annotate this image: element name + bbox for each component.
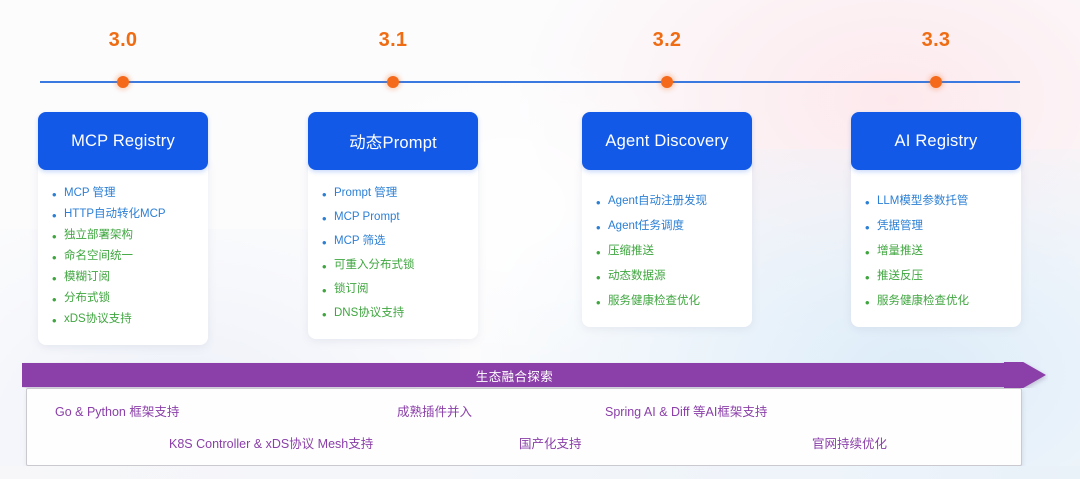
bullet-dot-icon: • <box>596 221 608 234</box>
ecosystem-item: 成熟插件并入 <box>397 401 472 420</box>
list-item-label: 可重入分布式锁 <box>334 260 472 272</box>
bullet-dot-icon: • <box>52 230 64 243</box>
list-item: • 增量推送 <box>865 246 1015 259</box>
version-card-mcp-registry[interactable]: MCP Registry • MCP 管理 • HTTP自动转化MCP • 独立… <box>38 112 208 345</box>
list-item-label: 模糊订阅 <box>64 272 202 284</box>
list-item: • MCP 管理 <box>52 188 202 201</box>
list-item-label: 服务健康检查优化 <box>608 296 746 308</box>
list-item: • 服务健康检查优化 <box>865 296 1015 309</box>
list-item: • MCP Prompt <box>322 212 472 225</box>
ecosystem-item: Go & Python 框架支持 <box>55 401 179 420</box>
list-item: • HTTP自动转化MCP <box>52 209 202 222</box>
card-header: 动态Prompt <box>308 112 478 170</box>
card-header: MCP Registry <box>38 112 208 170</box>
list-item-label: 压缩推送 <box>608 246 746 258</box>
version-card-dynamic-prompt[interactable]: 动态Prompt • Prompt 管理 • MCP Prompt • MCP … <box>308 112 478 339</box>
list-item-label: 增量推送 <box>877 246 1015 258</box>
ecosystem-item: Spring AI & Diff 等AI框架支持 <box>605 401 767 420</box>
ecosystem-arrow-banner: 生态融合探索 <box>22 362 1048 388</box>
ecosystem-item: 官网持续优化 <box>812 433 887 452</box>
bullet-dot-icon: • <box>322 236 334 249</box>
bullet-dot-icon: • <box>865 196 877 209</box>
timeline-label-3-2: 3.2 <box>627 29 707 52</box>
list-item: • Agent自动注册发现 <box>596 196 746 209</box>
list-item-label: 推送反压 <box>877 271 1015 283</box>
timeline-track: 3.0 3.1 3.2 3.3 <box>40 81 1020 83</box>
card-header: AI Registry <box>851 112 1021 170</box>
bullet-dot-icon: • <box>865 221 877 234</box>
card-title: AI Registry <box>895 132 978 151</box>
list-item-label: 凭据管理 <box>877 221 1015 233</box>
timeline-dot-icon <box>117 76 129 88</box>
list-item-label: DNS协议支持 <box>334 308 472 320</box>
list-item-label: 服务健康检查优化 <box>877 296 1015 308</box>
list-item: • 模糊订阅 <box>52 272 202 285</box>
card-body: • Agent自动注册发现 • Agent任务调度 • 压缩推送 • 动态数据源… <box>582 160 752 327</box>
card-body: • Prompt 管理 • MCP Prompt • MCP 筛选 • 可重入分… <box>308 160 478 339</box>
bullet-dot-icon: • <box>52 251 64 264</box>
bullet-dot-icon: • <box>865 296 877 309</box>
list-item-label: Agent自动注册发现 <box>608 196 746 208</box>
list-item-label: xDS协议支持 <box>64 314 202 326</box>
list-item: • DNS协议支持 <box>322 308 472 321</box>
list-item: • 动态数据源 <box>596 271 746 284</box>
card-body: • MCP 管理 • HTTP自动转化MCP • 独立部署架构 • 命名空间统一… <box>38 160 208 345</box>
timeline-label-3-0: 3.0 <box>83 29 163 52</box>
bullet-dot-icon: • <box>322 212 334 225</box>
list-item: • 命名空间统一 <box>52 251 202 264</box>
timeline-label-3-3: 3.3 <box>896 29 976 52</box>
list-item-label: 分布式锁 <box>64 293 202 305</box>
card-title: 动态Prompt <box>349 129 437 153</box>
timeline-dot-icon <box>930 76 942 88</box>
card-title: MCP Registry <box>71 132 175 151</box>
timeline-dot-icon <box>661 76 673 88</box>
list-item: • 可重入分布式锁 <box>322 260 472 273</box>
bullet-dot-icon: • <box>322 260 334 273</box>
list-item: • 服务健康检查优化 <box>596 296 746 309</box>
bullet-dot-icon: • <box>322 284 334 297</box>
version-card-agent-discovery[interactable]: Agent Discovery • Agent自动注册发现 • Agent任务调… <box>582 112 752 327</box>
bullet-dot-icon: • <box>596 271 608 284</box>
list-item-label: 独立部署架构 <box>64 230 202 242</box>
ecosystem-banner-label: 生态融合探索 <box>22 362 1007 388</box>
bullet-dot-icon: • <box>52 188 64 201</box>
bullet-dot-icon: • <box>596 296 608 309</box>
card-body: • LLM模型参数托管 • 凭据管理 • 增量推送 • 推送反压 • 服务健康检… <box>851 160 1021 327</box>
version-card-ai-registry[interactable]: AI Registry • LLM模型参数托管 • 凭据管理 • 增量推送 • … <box>851 112 1021 327</box>
list-item-label: LLM模型参数托管 <box>877 196 1015 208</box>
bullet-dot-icon: • <box>52 293 64 306</box>
list-item-label: Agent任务调度 <box>608 221 746 233</box>
timeline-label-3-1: 3.1 <box>353 29 433 52</box>
ecosystem-item: K8S Controller & xDS协议 Mesh支持 <box>169 433 373 452</box>
list-item-label: MCP 筛选 <box>334 236 472 248</box>
list-item: • Prompt 管理 <box>322 188 472 201</box>
footer-strip <box>0 466 1080 479</box>
ecosystem-items-box: Go & Python 框架支持 成熟插件并入 Spring AI & Diff… <box>26 388 1022 466</box>
bullet-dot-icon: • <box>865 246 877 259</box>
list-item: • xDS协议支持 <box>52 314 202 327</box>
card-header: Agent Discovery <box>582 112 752 170</box>
list-item: • 锁订阅 <box>322 284 472 297</box>
bullet-dot-icon: • <box>596 246 608 259</box>
list-item-label: 命名空间统一 <box>64 251 202 263</box>
list-item-label: HTTP自动转化MCP <box>64 209 202 221</box>
bullet-dot-icon: • <box>322 308 334 321</box>
list-item-label: Prompt 管理 <box>334 188 472 200</box>
list-item: • 凭据管理 <box>865 221 1015 234</box>
list-item: • LLM模型参数托管 <box>865 196 1015 209</box>
bullet-dot-icon: • <box>52 209 64 222</box>
list-item: • 独立部署架构 <box>52 230 202 243</box>
bullet-dot-icon: • <box>596 196 608 209</box>
list-item-label: MCP Prompt <box>334 212 472 224</box>
bullet-dot-icon: • <box>52 272 64 285</box>
timeline-dot-icon <box>387 76 399 88</box>
bullet-dot-icon: • <box>322 188 334 201</box>
ecosystem-item: 国产化支持 <box>519 433 582 452</box>
list-item-label: 锁订阅 <box>334 284 472 296</box>
list-item-label: 动态数据源 <box>608 271 746 283</box>
list-item: • 推送反压 <box>865 271 1015 284</box>
card-title: Agent Discovery <box>605 132 728 151</box>
bullet-dot-icon: • <box>52 314 64 327</box>
list-item-label: MCP 管理 <box>64 188 202 200</box>
list-item: • 分布式锁 <box>52 293 202 306</box>
bullet-dot-icon: • <box>865 271 877 284</box>
list-item: • 压缩推送 <box>596 246 746 259</box>
list-item: • MCP 筛选 <box>322 236 472 249</box>
list-item: • Agent任务调度 <box>596 221 746 234</box>
